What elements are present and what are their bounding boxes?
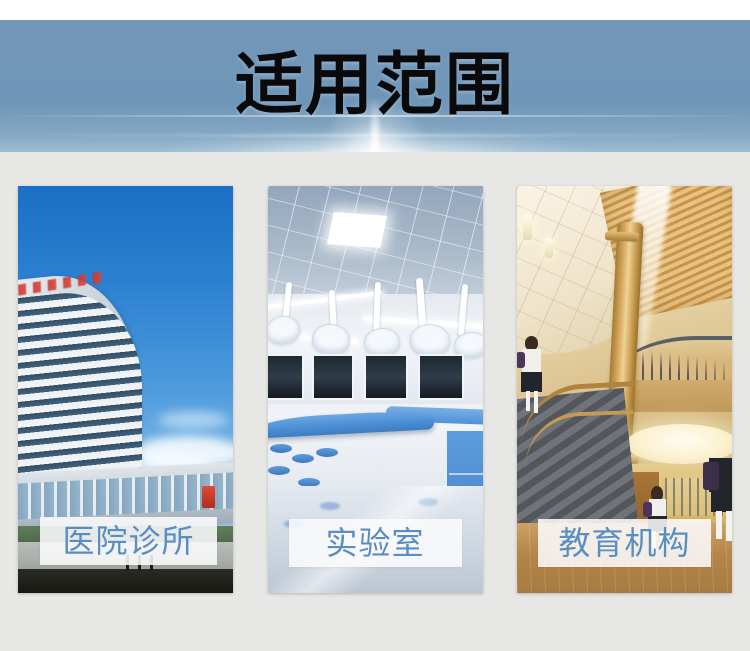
student-skirt [521, 372, 542, 392]
scenario-card-laboratory[interactable]: 实验室 [268, 186, 483, 593]
page-title: 适用范围 [0, 52, 750, 120]
lab-stool [268, 466, 290, 475]
lab-stool [292, 454, 314, 463]
card-label-band-hospital: 医院诊所 [40, 517, 217, 565]
header-banner: 适用范围 [0, 20, 750, 152]
window-panel [364, 354, 408, 400]
column-collar [605, 231, 639, 242]
student-bag [517, 352, 525, 368]
student-skirt [711, 490, 732, 512]
student-leg [534, 391, 538, 413]
window-panel [268, 354, 304, 400]
lab-stool [316, 448, 338, 457]
cloud-icon [158, 411, 228, 429]
scenario-card-education[interactable]: 教育机构 [517, 186, 732, 593]
ceiling-light-panel [327, 212, 387, 248]
lab-stool [270, 444, 292, 453]
student-figure [519, 336, 545, 422]
scenario-card-hospital[interactable]: 医院诊所 [18, 186, 233, 593]
window-panel [418, 354, 464, 400]
student-bag [643, 502, 652, 517]
usage-scenarios-row: 医院诊所 [18, 186, 732, 593]
card-label-education: 教育机构 [558, 527, 690, 559]
card-label-band-laboratory: 实验室 [289, 519, 462, 567]
student-leg [726, 511, 732, 541]
student-hair [525, 336, 538, 350]
card-label-hospital: 医院诊所 [62, 525, 194, 557]
student-leg [716, 511, 722, 539]
card-label-laboratory: 实验室 [325, 527, 424, 559]
card-label-band-education: 教育机构 [538, 519, 711, 567]
fume-hood-dome [409, 323, 451, 357]
window-panel [312, 354, 354, 400]
student-backpack [703, 462, 719, 490]
pendant-lamp-icon [545, 238, 553, 258]
red-signboard [202, 486, 215, 508]
student-leg [526, 391, 530, 411]
top-white-strip [0, 0, 750, 20]
foreground-shadow [18, 569, 233, 593]
pendant-lamp-icon [523, 214, 532, 240]
